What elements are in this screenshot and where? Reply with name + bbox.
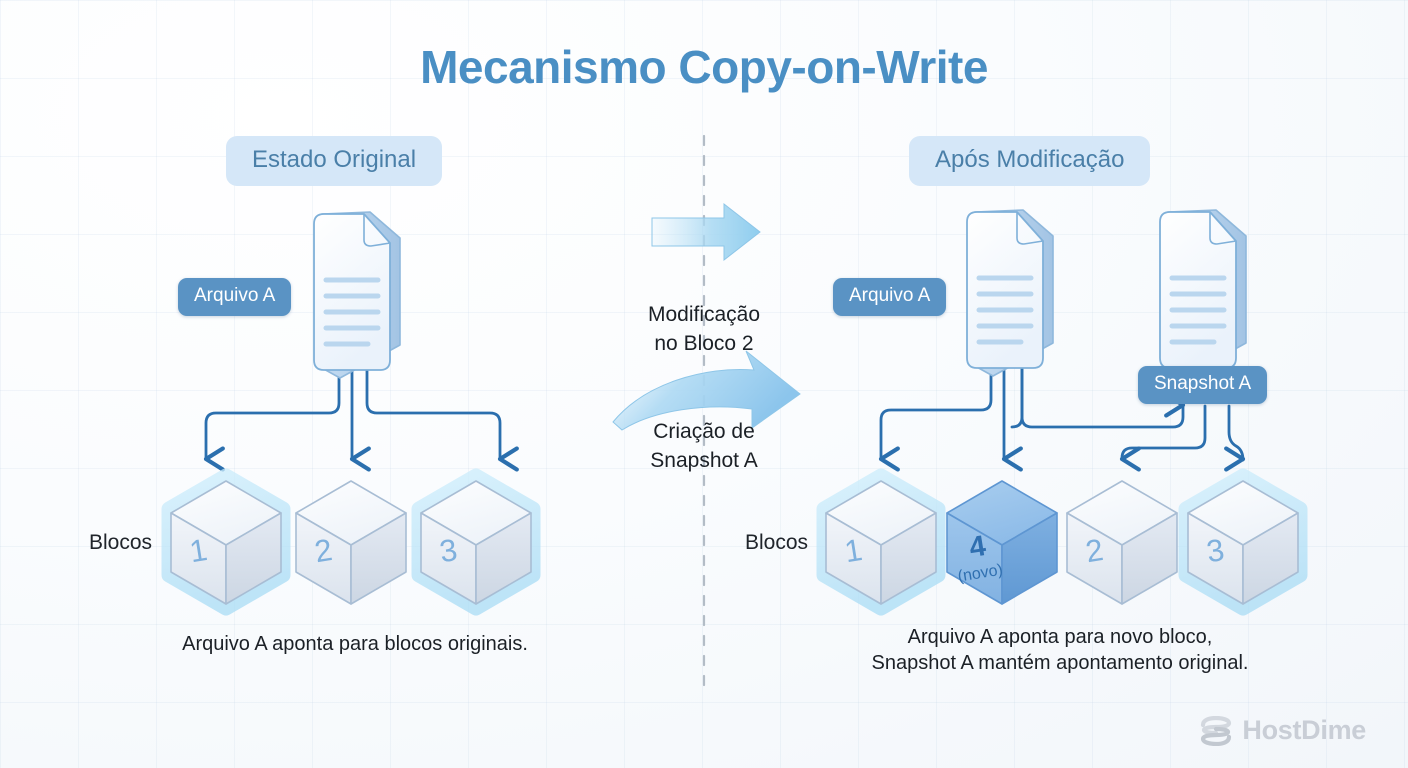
block-glow-hex bbox=[419, 476, 533, 608]
block-glow-hex bbox=[169, 476, 283, 608]
panel-header-left: Estado Original bbox=[226, 136, 442, 186]
badge-snapshot-a[interactable]: Snapshot A bbox=[1138, 366, 1267, 404]
straight-arrow-icon bbox=[652, 204, 760, 260]
hostdime-mark-icon bbox=[1199, 716, 1233, 746]
middle-label-modification: Modificação no Bloco 2 bbox=[584, 301, 824, 358]
infographic-canvas: Mecanismo Copy-on-Write bbox=[0, 0, 1408, 768]
block-glow-hex bbox=[1186, 476, 1300, 608]
block-cube-right-2: 2 bbox=[1067, 481, 1177, 604]
panel-header-right: Após Modificação bbox=[909, 136, 1150, 186]
connector-right-file-to-block-1 bbox=[881, 368, 991, 459]
svg-text:3: 3 bbox=[1204, 532, 1227, 569]
middle-label-snapshot: Criação de Snapshot A bbox=[584, 418, 824, 475]
block-cube-right-1: 1 bbox=[824, 476, 938, 608]
blocos-label-right: Blocos bbox=[745, 531, 808, 555]
connector-snapshot-to-block-2 bbox=[1122, 406, 1205, 459]
caption-left: Arquivo A aponta para blocos originais. bbox=[60, 631, 650, 657]
connector-left-to-block-3 bbox=[367, 370, 500, 459]
block-cube-left-3: 3 bbox=[419, 476, 533, 608]
svg-text:4: 4 bbox=[967, 530, 988, 564]
connector-snapshot-to-block-3 bbox=[1229, 406, 1243, 460]
svg-text:3: 3 bbox=[437, 532, 460, 569]
page-title: Mecanismo Copy-on-Write bbox=[0, 40, 1408, 94]
hostdime-logo-text: HostDime bbox=[1242, 715, 1366, 746]
block-cube-left-2: 2 bbox=[296, 481, 406, 604]
svg-text:2: 2 bbox=[312, 532, 335, 569]
svg-text:2: 2 bbox=[1083, 532, 1106, 569]
document-icon-right-arquivo-a bbox=[967, 210, 1053, 376]
badge-arquivo-a-left[interactable]: Arquivo A bbox=[178, 278, 291, 316]
block-glow-hex bbox=[824, 476, 938, 608]
svg-text:1: 1 bbox=[187, 532, 210, 569]
badge-arquivo-a-right[interactable]: Arquivo A bbox=[833, 278, 946, 316]
block-cube-right-3: 3 bbox=[1186, 476, 1300, 608]
block-cube-left-1: 1 bbox=[169, 476, 283, 608]
document-icon-snapshot-a bbox=[1160, 210, 1246, 376]
connector-snapshot-long-left bbox=[1012, 368, 1022, 427]
document-icon-left-arquivo-a bbox=[314, 212, 400, 378]
hostdime-logo: HostDime bbox=[1199, 715, 1366, 746]
svg-text:(novo): (novo) bbox=[957, 562, 1004, 586]
svg-text:1: 1 bbox=[842, 532, 865, 569]
caption-right: Arquivo A aponta para novo bloco, Snapsh… bbox=[760, 624, 1360, 676]
block-cube-right-4-new: 4 (novo) bbox=[947, 481, 1057, 604]
blocos-label-left: Blocos bbox=[89, 531, 152, 555]
connector-left-to-block-1 bbox=[206, 370, 339, 459]
